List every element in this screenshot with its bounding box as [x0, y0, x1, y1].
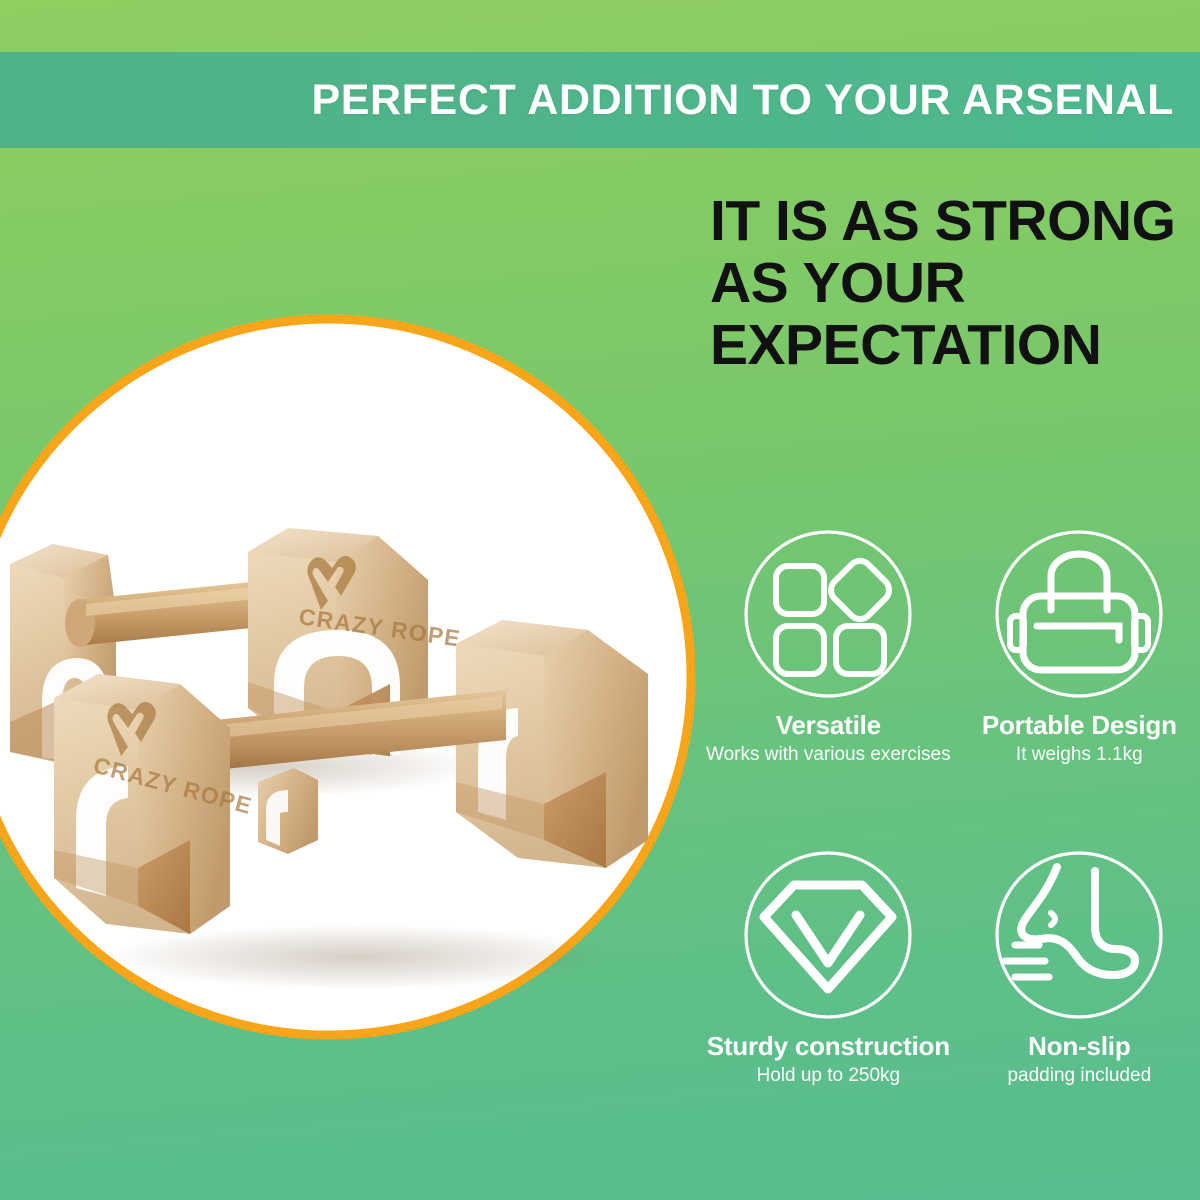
feature-title: Versatile — [776, 710, 881, 741]
feature-portable-design: Portable Design It weighs 1.1kg — [959, 528, 1200, 827]
feature-sturdy-construction: Sturdy construction Hold up to 250kg — [706, 849, 951, 1148]
banner-headline-text: PERFECT ADDITION TO YOUR ARSENAL — [311, 76, 1174, 125]
main-headline: IT IS AS STRONG AS YOUR EXPECTATION — [710, 190, 1190, 376]
product-marketing-poster: PERFECT ADDITION TO YOUR ARSENAL IT IS A… — [0, 0, 1200, 1200]
duffel-bag-icon — [993, 528, 1165, 700]
front-middle-foot — [258, 768, 318, 854]
feature-subtitle: padding included — [1007, 1065, 1151, 1087]
feature-subtitle: It weighs 1.1kg — [1016, 744, 1143, 766]
front-right-leg — [456, 620, 648, 868]
feature-title: Portable Design — [982, 710, 1177, 741]
four-shapes-icon — [742, 528, 914, 700]
feature-versatile: Versatile Works with various exercises — [706, 528, 951, 827]
foot-motion-icon — [993, 849, 1165, 1021]
feature-non-slip: Non-slip padding included — [959, 849, 1200, 1148]
front-logo-block: CRAZY ROPE — [54, 674, 255, 934]
feature-subtitle: Works with various exercises — [706, 744, 951, 766]
product-image-stage: CRAZY ROPE — [0, 312, 700, 1042]
wooden-parallettes-product-image: CRAZY ROPE — [0, 312, 700, 1042]
feature-grid: Versatile Works with various exercises P… — [706, 528, 1200, 1148]
feature-title: Sturdy construction — [707, 1031, 950, 1062]
feature-subtitle: Hold up to 250kg — [756, 1065, 900, 1087]
diamond-check-icon — [742, 849, 914, 1021]
top-banner: PERFECT ADDITION TO YOUR ARSENAL — [0, 52, 1200, 148]
feature-title: Non-slip — [1028, 1031, 1130, 1062]
